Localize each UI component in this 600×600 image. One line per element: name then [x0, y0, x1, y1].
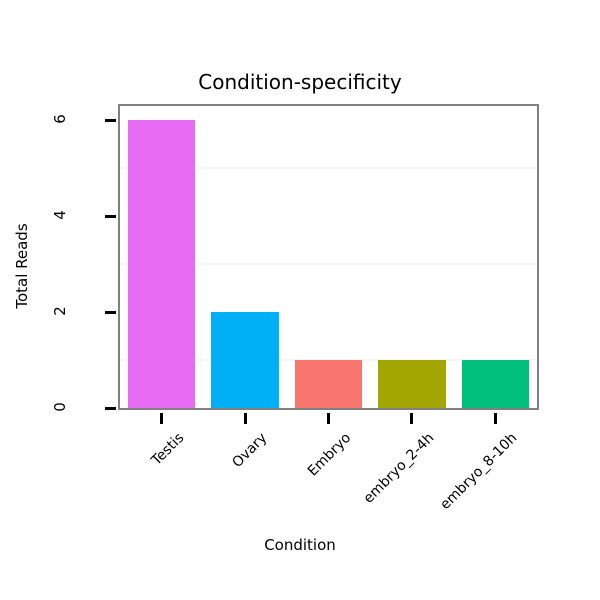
- plot-panel: [118, 104, 539, 410]
- y-axis-tick-label: 6: [51, 106, 69, 132]
- bar: [462, 360, 530, 408]
- y-axis-tick-label: 2: [51, 298, 69, 324]
- x-axis-tick-label: embryo_2-4h: [284, 430, 437, 583]
- y-axis-tick: [105, 119, 116, 122]
- x-axis-tick-label: Embryo: [201, 430, 354, 583]
- x-axis-tick: [494, 413, 497, 424]
- bar: [378, 360, 446, 408]
- bar: [211, 312, 279, 408]
- x-axis-title: Condition: [0, 536, 600, 554]
- x-axis-tick: [160, 413, 163, 424]
- x-axis-tick: [244, 413, 247, 424]
- y-axis-tick-label: 0: [51, 394, 69, 420]
- x-axis-tick: [327, 413, 330, 424]
- bar-chart: Condition-specificity 0246 Total Reads T…: [0, 0, 600, 600]
- bar: [295, 360, 363, 408]
- y-axis-tick-label: 4: [51, 202, 69, 228]
- bar: [128, 120, 196, 408]
- y-axis-title: Total Reads: [13, 186, 31, 346]
- y-axis-tick: [105, 311, 116, 314]
- x-axis-tick-label: Ovary: [118, 430, 271, 583]
- plot-area: [120, 106, 537, 408]
- y-axis-tick: [105, 215, 116, 218]
- y-axis-tick: [105, 407, 116, 410]
- x-axis-tick: [410, 413, 413, 424]
- x-axis-tick-label: embryo_8-10h: [368, 430, 521, 583]
